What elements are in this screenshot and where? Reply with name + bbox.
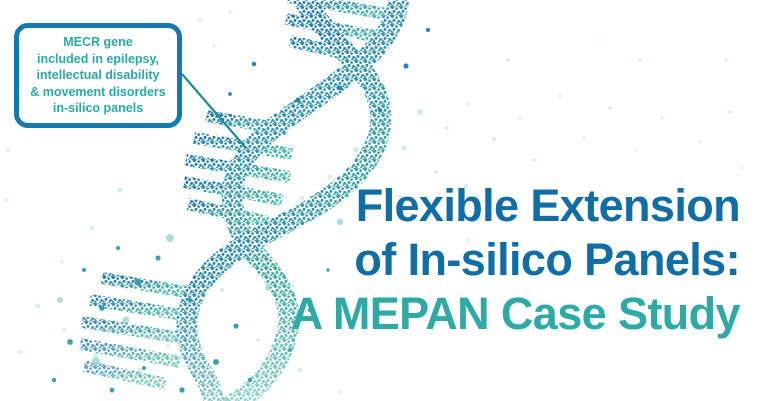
title-line-2: of In-silico Panels: [291,237,740,282]
title-line-1: Flexible Extension [291,183,740,228]
callout-text: MECR gene included in epilepsy, intellec… [25,34,170,117]
title-line-3-subtitle: A MEPAN Case Study [291,291,740,336]
poster-canvas: MECR gene included in epilepsy, intellec… [0,0,768,401]
mecr-gene-callout[interactable]: MECR gene included in epilepsy, intellec… [14,23,182,128]
page-title: Flexible Extension of In-silico Panels: … [291,183,740,336]
